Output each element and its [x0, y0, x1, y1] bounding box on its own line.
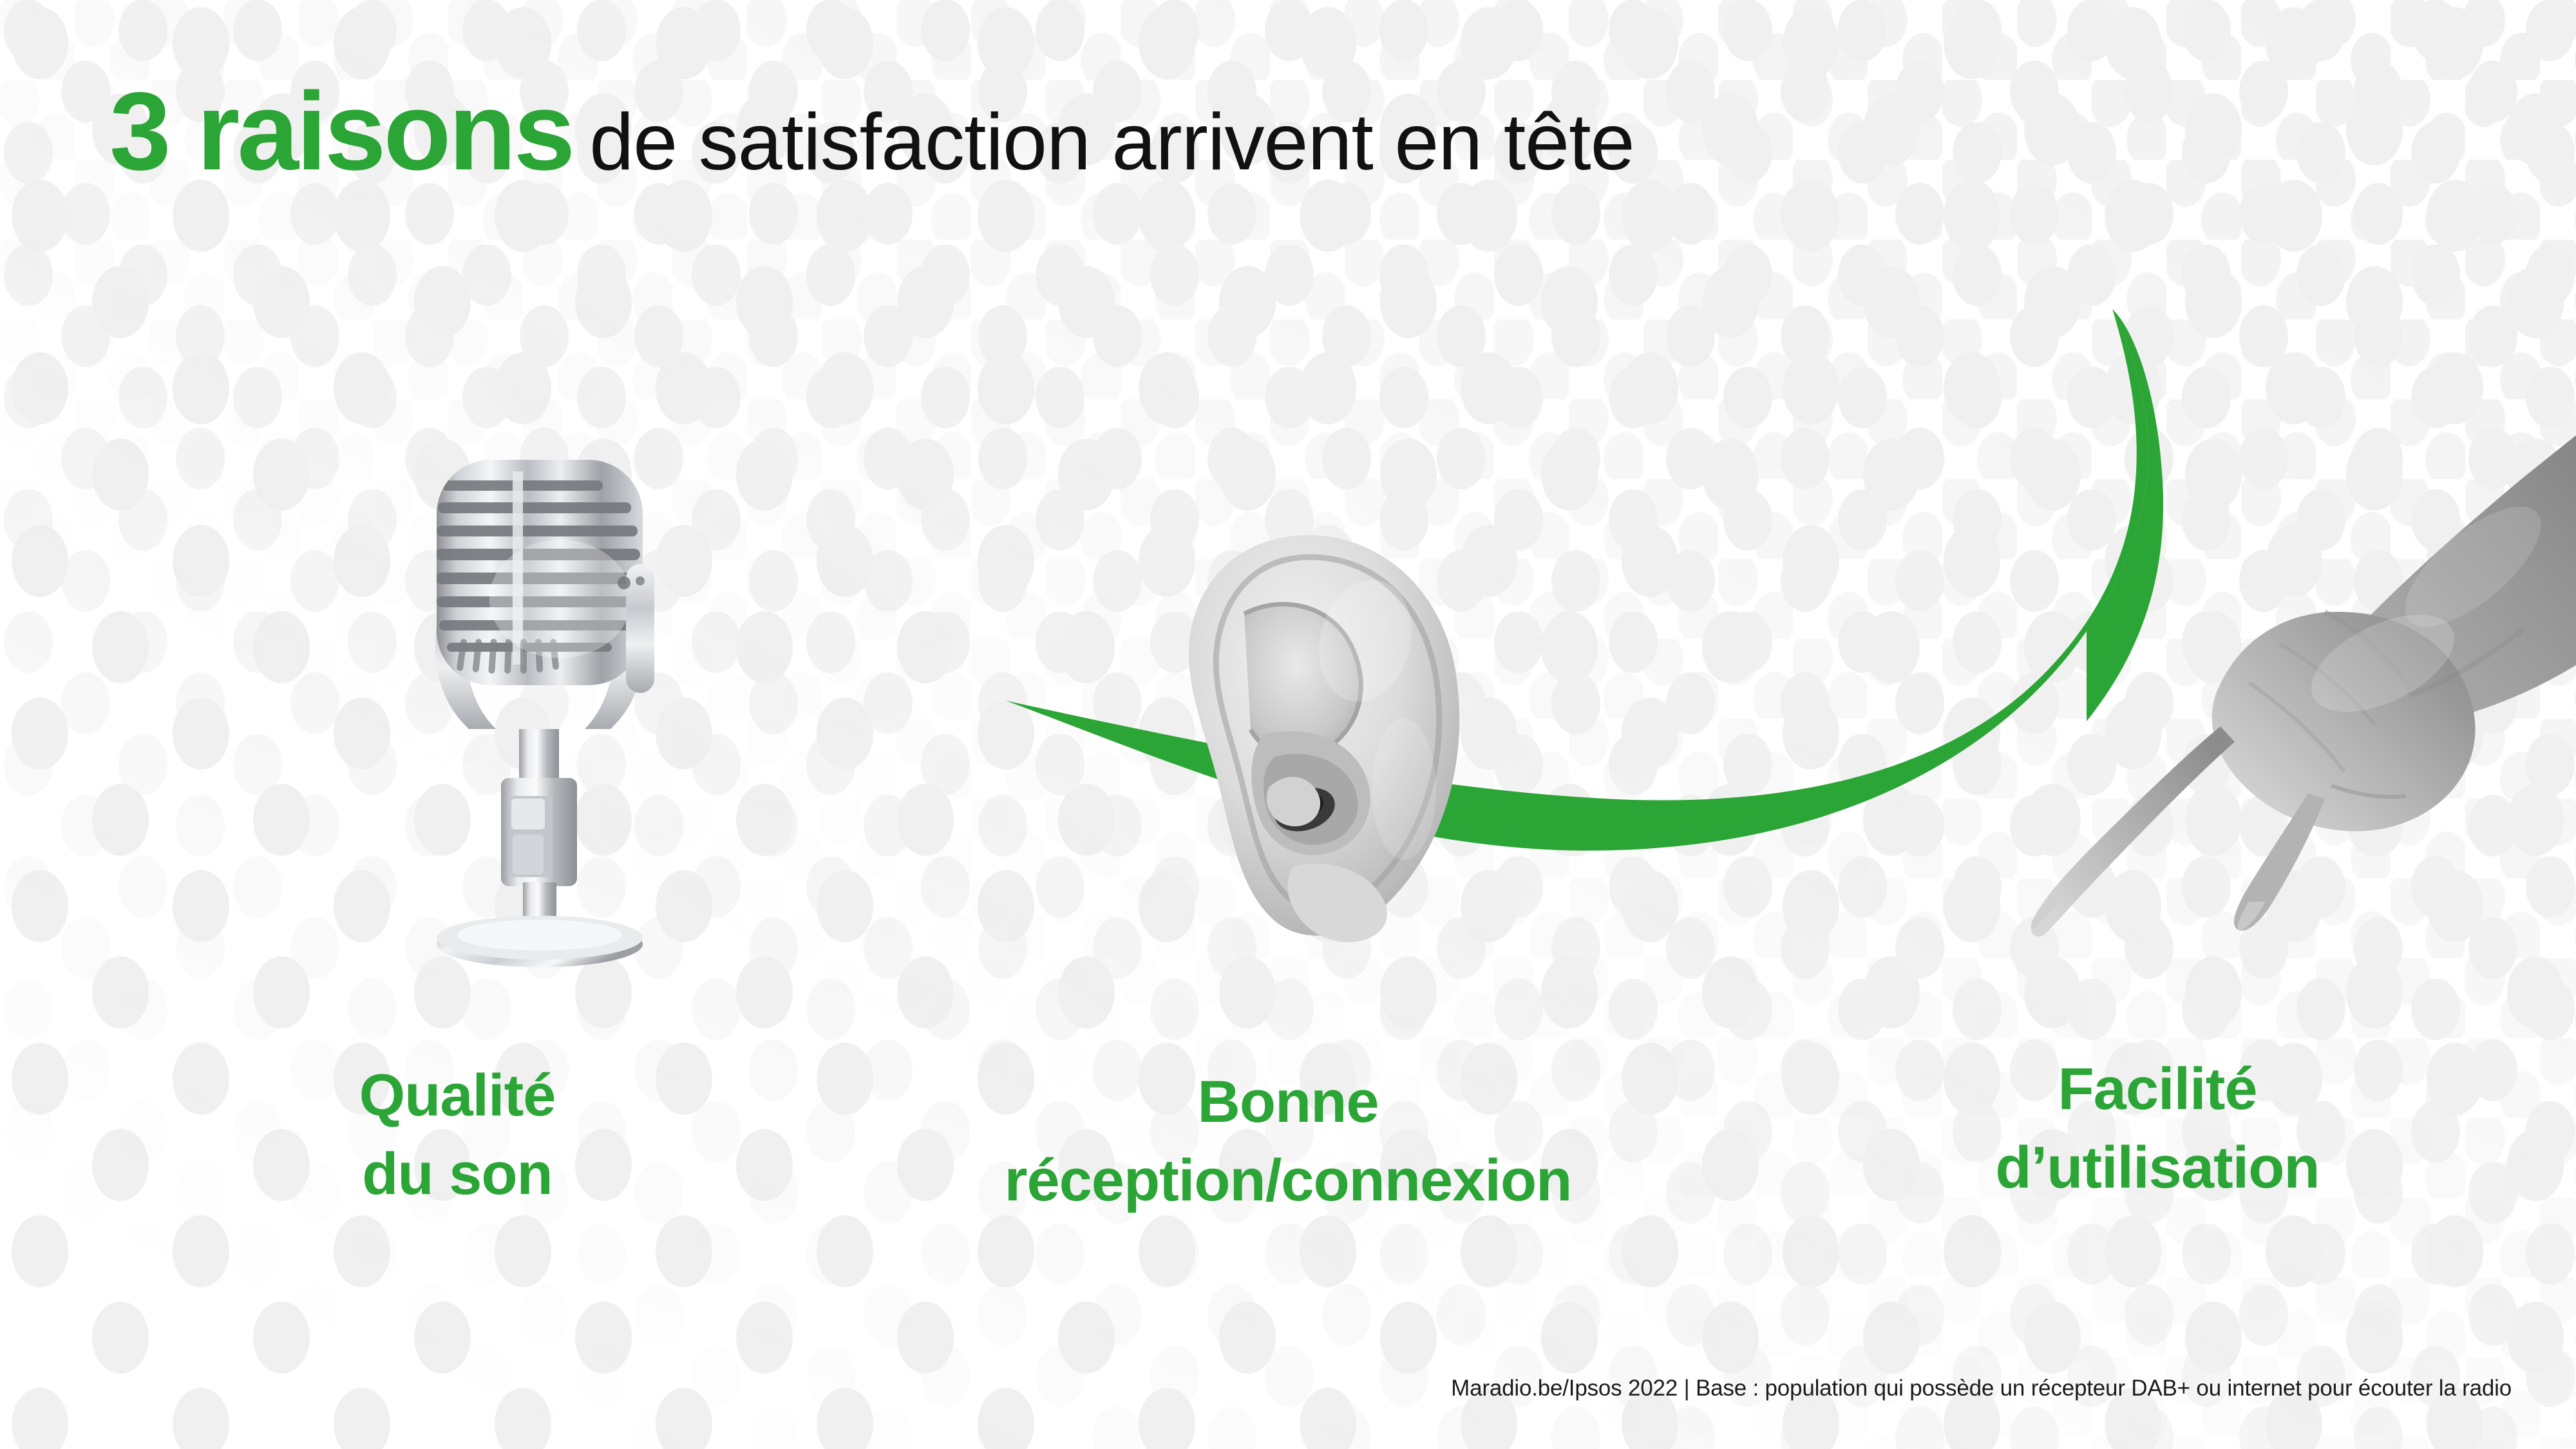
infographic-slide: 3 raisonsde satisfaction arrivent en têt…: [0, 0, 2576, 1449]
pointing-hand-icon: [2022, 451, 2576, 940]
human-ear-icon: [1172, 531, 1468, 943]
title-rest: de satisfaction arrivent en tête: [589, 98, 1634, 187]
reason-label-qualite-du-son: Qualité du son: [277, 1056, 638, 1214]
page-title: 3 raisonsde satisfaction arrivent en têt…: [109, 76, 1634, 187]
reason-label-bonne-reception-connexion: Bonne réception/connexion: [902, 1063, 1674, 1220]
reason-label-facilite-utilisation: Facilité d’utilisation: [1919, 1050, 2396, 1207]
title-highlight: 3 raisons: [109, 70, 573, 193]
retro-microphone-icon: [399, 438, 702, 972]
source-footnote: Maradio.be/Ipsos 2022 | Base : populatio…: [0, 1376, 2512, 1401]
